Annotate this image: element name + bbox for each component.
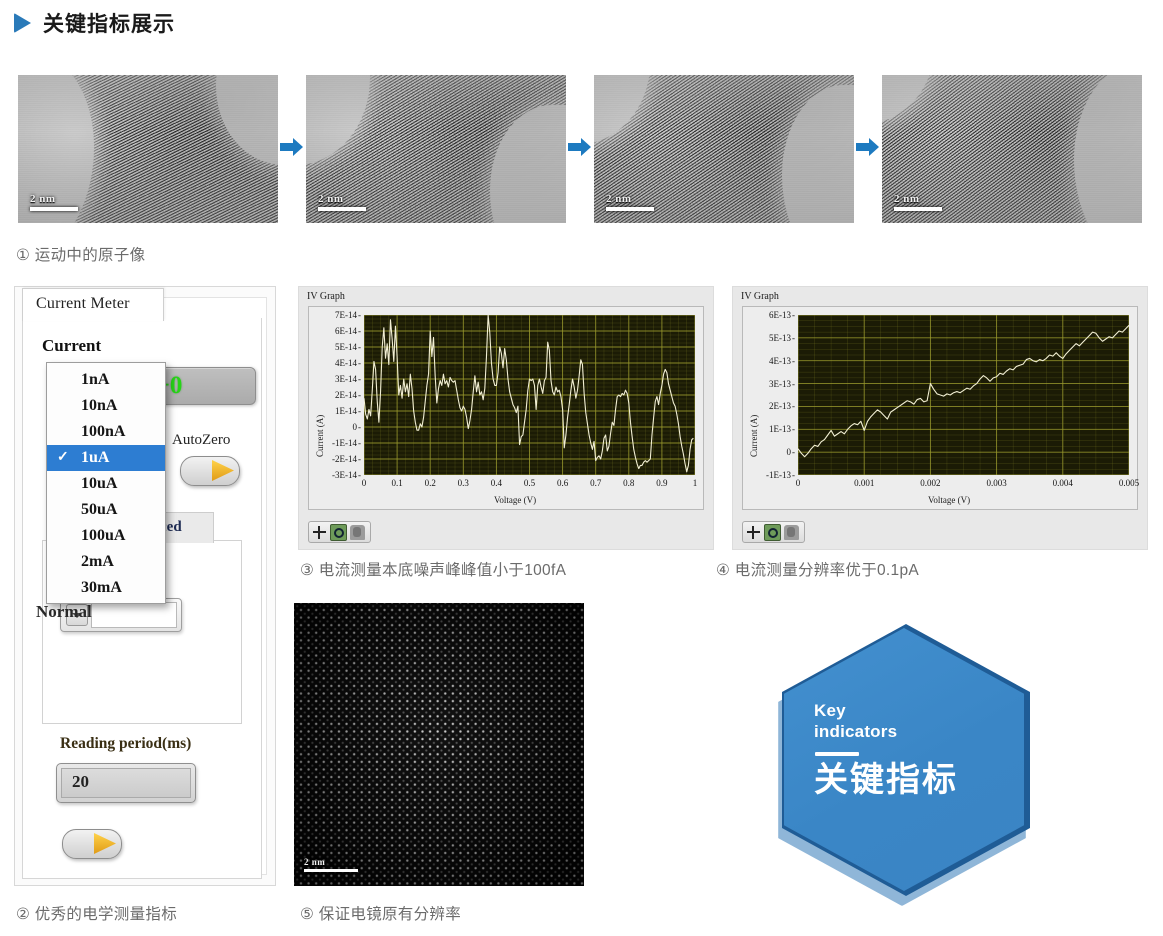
scale-bar-line	[30, 207, 78, 211]
iv-graph-svg	[364, 315, 695, 475]
dropdown-option-1na[interactable]: 1nA	[47, 367, 165, 393]
iv-graph-title: IV Graph	[307, 291, 345, 302]
arrow-step-2	[566, 75, 594, 223]
scale-bar-label: 2 nm	[318, 193, 366, 205]
iv-graph-panel-resolution: IV Graph Current (A) Voltage (V) 6E-135E…	[732, 286, 1148, 550]
iv-graph-ytick: -2E-14	[309, 454, 361, 464]
current-range-dropdown[interactable]: 1nA 10nA 100nA 1uA 10uA 50uA 100uA 2mA 3…	[46, 362, 166, 604]
toggle-knob-icon	[94, 833, 116, 854]
iv-graph-xtick: 0.2	[425, 478, 436, 488]
iv-graph-xtick: 0.002	[920, 478, 940, 488]
iv-graph-toolbar[interactable]	[742, 521, 805, 543]
dropdown-option-100ua[interactable]: 100uA	[47, 523, 165, 549]
iv-graph-xtick: 0.4	[491, 478, 502, 488]
scale-bar: 2 nm	[318, 193, 366, 211]
tem-image-strip: 2 nm 2 nm 2 nm	[18, 75, 1144, 223]
iv-graph-xtick: 0.5	[524, 478, 535, 488]
iv-graph-ytick: 7E-14	[309, 310, 361, 320]
iv-graph-panel-noise: IV Graph Current (A) Voltage (V) 7E-146E…	[298, 286, 714, 550]
tem-image-3: 2 nm	[594, 75, 854, 223]
scale-bar-label: 2 nm	[606, 193, 654, 205]
iv-graph-xtick: 0.001	[854, 478, 874, 488]
hexagon-english-line1: Key	[814, 700, 1014, 721]
hexagon-divider	[815, 752, 859, 756]
tem-image-2: 2 nm	[306, 75, 566, 223]
scale-bar: 2 nm	[304, 857, 358, 872]
mode-combo-field[interactable]	[91, 602, 177, 628]
arrow-right-icon	[856, 135, 880, 159]
scale-bar-line	[894, 207, 942, 211]
iv-graph-ytick: 3E-13	[743, 379, 795, 389]
iv-graph-plot-area[interactable]	[364, 315, 695, 475]
stem-atomic-resolution-image: 2 nm	[294, 603, 584, 886]
iv-graph-ytick: 1E-14	[309, 406, 361, 416]
iv-graph-ytick: 0	[309, 422, 361, 432]
arrow-right-icon	[280, 135, 304, 159]
iv-graph-ytick: 3E-14	[309, 374, 361, 384]
iv-graph-ytick: 1E-13	[743, 424, 795, 434]
iv-graph-ytick: 5E-13	[743, 333, 795, 343]
iv-graph-ytick: 0	[743, 447, 795, 457]
dropdown-option-30ma[interactable]: 30mA	[47, 575, 165, 601]
iv-graph-xtick: 0.9	[656, 478, 667, 488]
hexagon-text-block: Key indicators 关键指标	[814, 700, 1014, 799]
image-vignette	[294, 603, 584, 886]
crosshair-cursor-icon[interactable]	[746, 525, 761, 540]
iv-graph-ytick: 2E-14	[309, 390, 361, 400]
iv-graph-xtick: 0.8	[623, 478, 634, 488]
hexagon-chinese-label: 关键指标	[814, 762, 1014, 799]
scale-bar-label: 2 nm	[30, 193, 78, 205]
iv-graph-svg	[798, 315, 1129, 475]
zoom-tool-icon[interactable]	[330, 524, 347, 541]
iv-graph-ytick: 6E-14	[309, 326, 361, 336]
iv-graph-xlabel: Voltage (V)	[928, 495, 970, 505]
dropdown-option-1ua[interactable]: 1uA	[47, 445, 165, 471]
autozero-toggle[interactable]	[180, 456, 240, 486]
iv-graph-xtick: 0.7	[590, 478, 601, 488]
toggle-knob-icon	[212, 460, 234, 481]
play-triangle-icon	[14, 13, 31, 33]
iv-graph-plot-area[interactable]	[798, 315, 1129, 475]
iv-graph-xtick: 0.1	[391, 478, 402, 488]
autozero-label: AutoZero	[172, 432, 230, 449]
iv-graph-ytick: 5E-14	[309, 342, 361, 352]
iv-graph-frame: Current (A) Voltage (V) 6E-135E-134E-133…	[742, 306, 1138, 510]
tem-image-1: 2 nm	[18, 75, 278, 223]
arrow-step-3	[854, 75, 882, 223]
arrow-right-icon	[568, 135, 592, 159]
pan-hand-icon[interactable]	[784, 525, 799, 540]
mode-combo-value: Normal	[36, 602, 92, 622]
dropdown-option-10na[interactable]: 10nA	[47, 393, 165, 419]
caption-1: ① 运动中的原子像	[16, 243, 145, 265]
iv-graph-ytick: -1E-13	[743, 470, 795, 480]
run-toggle[interactable]	[62, 829, 122, 859]
reading-period-value: 20	[72, 772, 89, 792]
iv-graph-ytick: 2E-13	[743, 401, 795, 411]
iv-graph-ytick: 6E-13	[743, 310, 795, 320]
key-indicators-hexagon: Key indicators 关键指标	[752, 600, 1052, 930]
iv-graph-xtick: 0.005	[1119, 478, 1139, 488]
iv-graph-toolbar[interactable]	[308, 521, 371, 543]
dropdown-option-2ma[interactable]: 2mA	[47, 549, 165, 575]
scale-bar-line	[606, 207, 654, 211]
caption-5: ⑤ 保证电镜原有分辨率	[300, 902, 461, 924]
iv-graph-xlabel: Voltage (V)	[494, 495, 536, 505]
arrow-step-1	[278, 75, 306, 223]
iv-graph-ytick: 4E-14	[309, 358, 361, 368]
iv-graph-xtick: 0.3	[458, 478, 469, 488]
dropdown-option-10ua[interactable]: 10uA	[47, 471, 165, 497]
tab-current-meter-label: Current Meter	[36, 295, 130, 313]
iv-graph-ytick: -1E-14	[309, 438, 361, 448]
scale-bar-line	[318, 207, 366, 211]
iv-graph-frame: Current (A) Voltage (V) 7E-146E-145E-144…	[308, 306, 704, 510]
iv-graph-ytick: -3E-14	[309, 470, 361, 480]
dropdown-option-50ua[interactable]: 50uA	[47, 497, 165, 523]
page-title: 关键指标展示	[43, 8, 175, 38]
reading-period-label: Reading period(ms)	[60, 735, 191, 753]
zoom-tool-icon[interactable]	[764, 524, 781, 541]
current-section-label: Current	[42, 336, 101, 356]
scale-bar: 2 nm	[30, 193, 78, 211]
hexagon-english-line2: indicators	[814, 721, 1014, 742]
scale-bar-label: 2 nm	[894, 193, 942, 205]
iv-graph-xtick: 0.6	[557, 478, 568, 488]
iv-graph-xtick: 1	[693, 478, 698, 488]
tem-image-4: 2 nm	[882, 75, 1142, 223]
iv-graph-xtick: 0.003	[986, 478, 1006, 488]
scale-bar-line	[304, 869, 358, 872]
pan-hand-icon[interactable]	[350, 525, 365, 540]
caption-2: ② 优秀的电学测量指标	[16, 902, 177, 924]
iv-graph-xtick: 0	[796, 478, 801, 488]
iv-graph-xtick: 0	[362, 478, 367, 488]
caption-4: ④ 电流测量分辨率优于0.1pA	[716, 558, 919, 580]
scale-bar: 2 nm	[606, 193, 654, 211]
scale-bar-label: 2 nm	[304, 857, 358, 867]
caption-3: ③ 电流测量本底噪声峰峰值小于100fA	[300, 558, 566, 580]
iv-graph-ytick: 4E-13	[743, 356, 795, 366]
scale-bar: 2 nm	[894, 193, 942, 211]
crosshair-cursor-icon[interactable]	[312, 525, 327, 540]
dropdown-option-100na[interactable]: 100nA	[47, 419, 165, 445]
page-header: 关键指标展示	[14, 8, 175, 38]
iv-graph-title: IV Graph	[741, 291, 779, 302]
iv-graph-xtick: 0.004	[1053, 478, 1073, 488]
